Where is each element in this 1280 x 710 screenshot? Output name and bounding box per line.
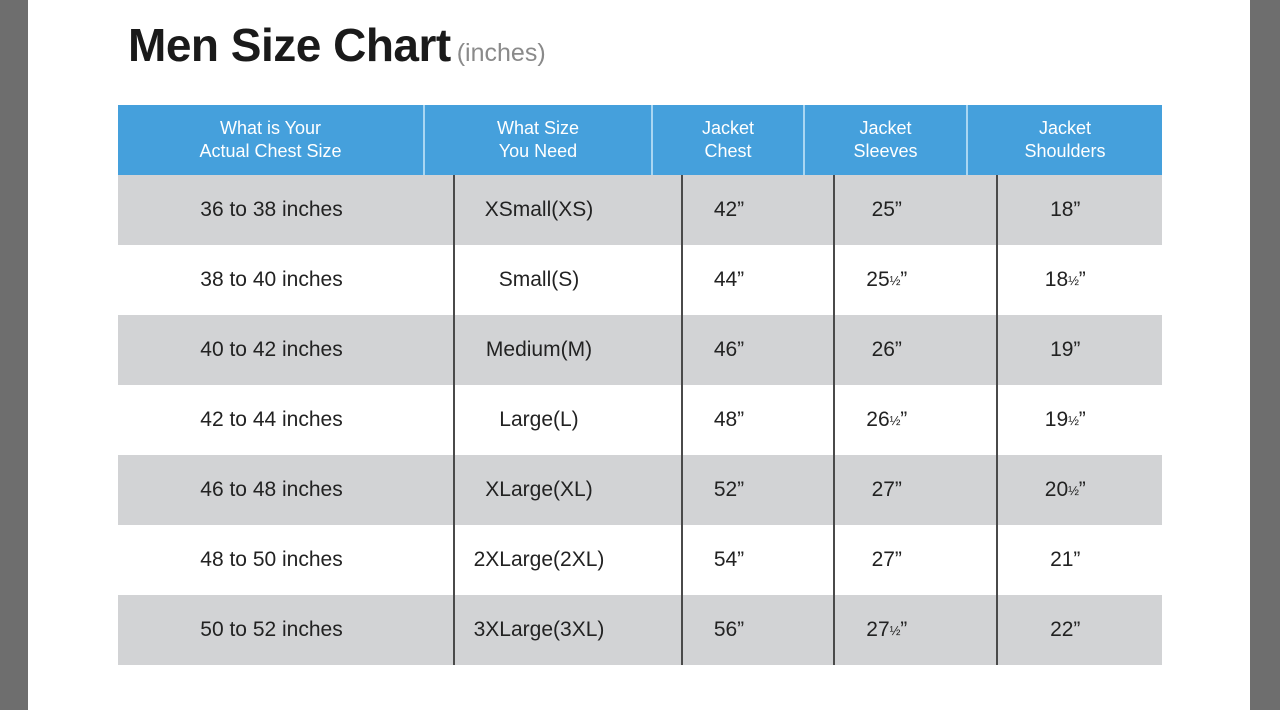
column-header-jacket-chest: Jacket Chest bbox=[653, 105, 805, 175]
fraction-glyph: ½ bbox=[1068, 413, 1079, 428]
fraction-glyph: ½ bbox=[890, 413, 901, 428]
column-header-size-you-need: What Size You Need bbox=[425, 105, 653, 175]
table-body: 36 to 38 inchesXSmall(XS)42”25”18”38 to … bbox=[118, 175, 1162, 665]
fraction-glyph: ½ bbox=[890, 273, 901, 288]
column-divider-1 bbox=[453, 175, 455, 665]
cell-actual-chest-size: 36 to 38 inches bbox=[118, 175, 425, 245]
column-header-line1: Jacket bbox=[1024, 117, 1105, 140]
table-row: 38 to 40 inchesSmall(S)44”25½”18½” bbox=[118, 245, 1162, 315]
cell-jacket-sleeves: 27” bbox=[805, 455, 968, 525]
cell-size-you-need: XSmall(XS) bbox=[425, 175, 653, 245]
page-title-unit: (inches) bbox=[457, 39, 546, 67]
slide-canvas: Men Size Chart(inches) What is Your Actu… bbox=[28, 0, 1250, 710]
column-divider-3 bbox=[833, 175, 835, 665]
column-header-actual-chest-size: What is Your Actual Chest Size bbox=[118, 105, 425, 175]
cell-jacket-sleeves: 26½” bbox=[805, 385, 968, 455]
cell-jacket-chest: 42” bbox=[653, 175, 805, 245]
cell-jacket-sleeves: 26” bbox=[805, 315, 968, 385]
table-row: 46 to 48 inchesXLarge(XL)52”27”20½” bbox=[118, 455, 1162, 525]
cell-actual-chest-size: 42 to 44 inches bbox=[118, 385, 425, 455]
column-header-line1: What is Your bbox=[199, 117, 341, 140]
right-letterbox-bar bbox=[1250, 0, 1280, 710]
column-header-line2: Actual Chest Size bbox=[199, 140, 341, 163]
cell-actual-chest-size: 48 to 50 inches bbox=[118, 525, 425, 595]
cell-size-you-need: Large(L) bbox=[425, 385, 653, 455]
fraction-glyph: ½ bbox=[1068, 273, 1079, 288]
cell-size-you-need: XLarge(XL) bbox=[425, 455, 653, 525]
column-divider-4 bbox=[996, 175, 998, 665]
cell-jacket-chest: 48” bbox=[653, 385, 805, 455]
fraction-glyph: ½ bbox=[890, 623, 901, 638]
column-header-line1: Jacket bbox=[702, 117, 754, 140]
table-row: 40 to 42 inchesMedium(M)46”26”19” bbox=[118, 315, 1162, 385]
cell-jacket-sleeves: 27” bbox=[805, 525, 968, 595]
table-header-row: What is Your Actual Chest Size What Size… bbox=[118, 105, 1162, 175]
table-row: 50 to 52 inches3XLarge(3XL)56”27½”22” bbox=[118, 595, 1162, 665]
page-title: Men Size Chart(inches) bbox=[128, 18, 546, 72]
column-header-line1: What Size bbox=[497, 117, 579, 140]
fraction-glyph: ½ bbox=[1068, 483, 1079, 498]
table-row: 42 to 44 inchesLarge(L)48”26½”19½” bbox=[118, 385, 1162, 455]
size-chart-table: What is Your Actual Chest Size What Size… bbox=[118, 105, 1162, 665]
cell-jacket-chest: 44” bbox=[653, 245, 805, 315]
cell-actual-chest-size: 40 to 42 inches bbox=[118, 315, 425, 385]
slide-stage: Men Size Chart(inches) What is Your Actu… bbox=[0, 0, 1280, 710]
table-row: 36 to 38 inchesXSmall(XS)42”25”18” bbox=[118, 175, 1162, 245]
cell-jacket-chest: 56” bbox=[653, 595, 805, 665]
column-header-line2: You Need bbox=[497, 140, 579, 163]
cell-size-you-need: Small(S) bbox=[425, 245, 653, 315]
column-header-line1: Jacket bbox=[853, 117, 917, 140]
cell-jacket-sleeves: 25” bbox=[805, 175, 968, 245]
column-header-jacket-sleeves: Jacket Sleeves bbox=[805, 105, 968, 175]
column-divider-2 bbox=[681, 175, 683, 665]
column-header-line2: Chest bbox=[702, 140, 754, 163]
column-header-line2: Sleeves bbox=[853, 140, 917, 163]
left-letterbox-bar bbox=[0, 0, 28, 710]
cell-size-you-need: Medium(M) bbox=[425, 315, 653, 385]
cell-size-you-need: 2XLarge(2XL) bbox=[425, 525, 653, 595]
table-row: 48 to 50 inches2XLarge(2XL)54”27”21” bbox=[118, 525, 1162, 595]
cell-size-you-need: 3XLarge(3XL) bbox=[425, 595, 653, 665]
cell-jacket-chest: 46” bbox=[653, 315, 805, 385]
column-header-line2: Shoulders bbox=[1024, 140, 1105, 163]
cell-actual-chest-size: 46 to 48 inches bbox=[118, 455, 425, 525]
column-header-jacket-shoulders: Jacket Shoulders bbox=[968, 105, 1162, 175]
cell-jacket-chest: 52” bbox=[653, 455, 805, 525]
cell-jacket-sleeves: 25½” bbox=[805, 245, 968, 315]
cell-jacket-sleeves: 27½” bbox=[805, 595, 968, 665]
page-title-main: Men Size Chart bbox=[128, 19, 451, 71]
cell-actual-chest-size: 50 to 52 inches bbox=[118, 595, 425, 665]
cell-jacket-chest: 54” bbox=[653, 525, 805, 595]
cell-actual-chest-size: 38 to 40 inches bbox=[118, 245, 425, 315]
